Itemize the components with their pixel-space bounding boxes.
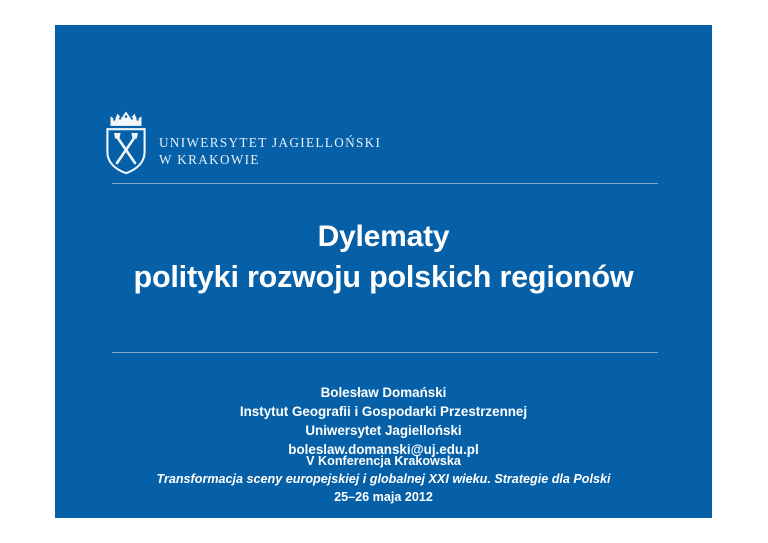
wordmark-line-2: W KRAKOWIE	[159, 152, 381, 169]
author-name: Bolesław Domański	[55, 383, 712, 402]
author-university: Uniwersytet Jagielloński	[55, 421, 712, 440]
conference-subtitle: Transformacja sceny europejskiej i globa…	[55, 471, 712, 489]
divider-above-title	[112, 183, 658, 184]
university-logo: UNIWERSYTET JAGIELLOŃSKI W KRAKOWIE	[104, 105, 381, 175]
presentation-title-slide: UNIWERSYTET JAGIELLOŃSKI W KRAKOWIE Dyle…	[55, 25, 712, 518]
conference-date: 25–26 maja 2012	[55, 489, 712, 507]
slide-title: Dylematy polityki rozwoju polskich regio…	[55, 217, 712, 298]
wordmark-line-1: UNIWERSYTET JAGIELLOŃSKI	[159, 135, 381, 152]
conference-name: V Konferencja Krakowska	[55, 453, 712, 471]
slide-title-line-1: Dylematy	[55, 217, 712, 257]
divider-below-title	[112, 352, 658, 353]
author-affiliation-block: Bolesław Domański Instytut Geografii i G…	[55, 383, 712, 459]
conference-block: V Konferencja Krakowska Transformacja sc…	[55, 453, 712, 507]
slide-title-line-2: polityki rozwoju polskich regionów	[55, 257, 712, 298]
author-institute: Instytut Geografii i Gospodarki Przestrz…	[55, 402, 712, 421]
university-wordmark: UNIWERSYTET JAGIELLOŃSKI W KRAKOWIE	[159, 135, 381, 175]
uniwersytet-jagiellonski-crest-icon	[104, 105, 148, 175]
